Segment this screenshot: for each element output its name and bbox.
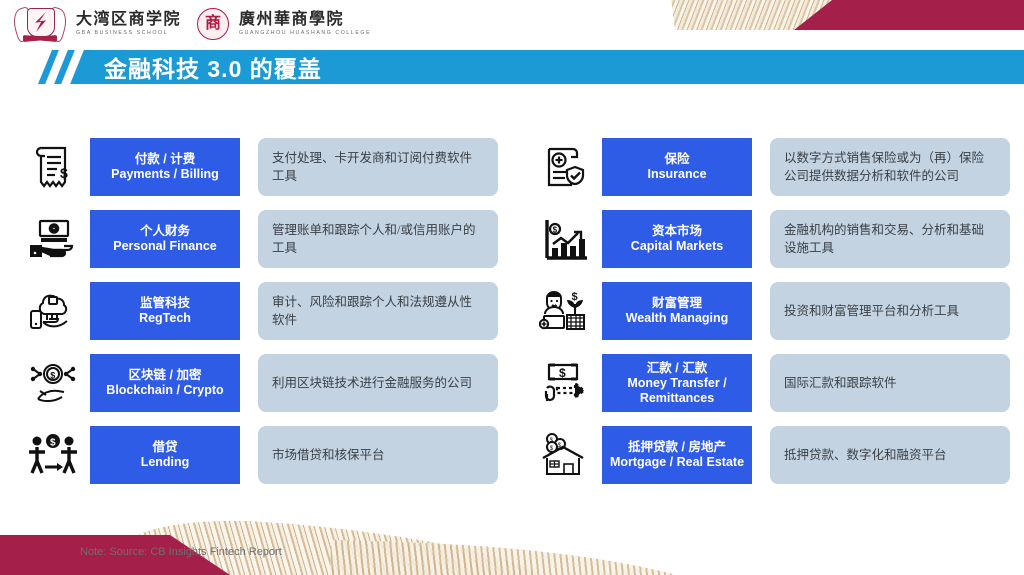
huashang-seal-glyph: 商 bbox=[205, 16, 221, 32]
slide-title-band: 金融科技 3.0 的覆盖 bbox=[38, 50, 1024, 84]
svg-text:$: $ bbox=[60, 165, 68, 181]
category-description: 国际汇款和跟踪软件 bbox=[770, 354, 1010, 412]
category-row-wealth-managing[interactable]: $ 财富管理 Wealth Managing 投资和财富管理平台和分析工具 bbox=[512, 282, 1024, 340]
category-description: 审计、风险和跟踪个人和法规遵从性软件 bbox=[258, 282, 498, 340]
huashang-logo-en: GUANGZHOU HUASHANG COLLEGE bbox=[239, 31, 371, 36]
huashang-logo-cn: 廣州華商學院 bbox=[239, 12, 371, 28]
huashang-logo-text: 廣州華商學院 GUANGZHOU HUASHANG COLLEGE bbox=[239, 12, 371, 36]
category-label-payments-billing[interactable]: 付款 / 计费 Payments / Billing bbox=[90, 138, 240, 196]
top-swirl-ornament-secondary-icon bbox=[852, 0, 1007, 45]
insurance-document-shield-icon bbox=[528, 138, 602, 196]
slide-root: 大湾区商学院 GBA BUSINESS SCHOOL 商 廣州華商學院 GUAN… bbox=[0, 0, 1024, 575]
svg-text:$: $ bbox=[50, 438, 56, 449]
category-row-payments-billing[interactable]: $ 付款 / 计费 Payments / Billing 支付处理、卡开发商和订… bbox=[0, 138, 512, 196]
category-description: 以数字方式销售保险或为（再）保险公司提供数据分析和软件的公司 bbox=[770, 138, 1010, 196]
category-label-money-transfer[interactable]: 汇款 / 汇款 Money Transfer / Remittances bbox=[602, 354, 752, 412]
category-label-personal-finance[interactable]: 个人财务 Personal Finance bbox=[90, 210, 240, 268]
label-en: Payments / Billing bbox=[111, 167, 219, 182]
banknote-arrow-hand-icon: $ bbox=[528, 354, 602, 412]
top-swirl-ornament-icon bbox=[669, 0, 908, 46]
label-en: Mortgage / Real Estate bbox=[610, 455, 744, 470]
svg-text:$: $ bbox=[559, 366, 566, 380]
gba-logo-en: GBA BUSINESS SCHOOL bbox=[76, 31, 181, 36]
label-cn: 监管科技 bbox=[140, 296, 190, 310]
gba-crest-icon bbox=[14, 6, 66, 42]
house-coins-icon: $ $ $ bbox=[528, 426, 602, 484]
svg-text:$: $ bbox=[572, 291, 578, 303]
category-row-regtech[interactable]: 监管科技 RegTech 审计、风险和跟踪个人和法规遵从性软件 bbox=[0, 282, 512, 340]
fintech-category-grid: $ 付款 / 计费 Payments / Billing 支付处理、卡开发商和订… bbox=[0, 138, 1024, 498]
label-cn: 抵押贷款 / 房地产 bbox=[628, 440, 726, 454]
category-description: 抵押贷款、数字化和融资平台 bbox=[770, 426, 1010, 484]
category-row-mortgage-real-estate[interactable]: $ $ $ 抵押贷款 / 房地产 Mortgage / Real Estate bbox=[512, 426, 1024, 484]
label-en: Capital Markets bbox=[631, 239, 723, 254]
label-cn: 保险 bbox=[664, 152, 689, 166]
label-en: Personal Finance bbox=[113, 239, 217, 254]
category-description: 投资和财富管理平台和分析工具 bbox=[770, 282, 1010, 340]
footer-decoration bbox=[0, 515, 1024, 575]
svg-text:$: $ bbox=[50, 371, 55, 381]
page-title: 金融科技 3.0 的覆盖 bbox=[104, 50, 322, 84]
footer-swirl-ornament-icon bbox=[118, 515, 552, 575]
double-slash-icon bbox=[38, 50, 108, 84]
category-row-money-transfer[interactable]: $ 汇款 / 汇款 Money Transfer / Remittances 国… bbox=[512, 354, 1024, 412]
label-cn: 个人财务 bbox=[140, 224, 190, 238]
category-description: 金融机构的销售和交易、分析和基础设施工具 bbox=[770, 210, 1010, 268]
category-description: 管理账单和跟踪个人和/或信用账户的工具 bbox=[258, 210, 498, 268]
category-row-blockchain-crypto[interactable]: $ bbox=[0, 354, 512, 412]
footer-swirl-ornament-secondary-icon bbox=[329, 540, 751, 575]
category-label-wealth-managing[interactable]: 财富管理 Wealth Managing bbox=[602, 282, 752, 340]
label-cn: 区块链 / 加密 bbox=[129, 368, 202, 382]
blockchain-coin-hand-icon: $ bbox=[16, 354, 90, 412]
left-column: $ 付款 / 计费 Payments / Billing 支付处理、卡开发商和订… bbox=[0, 138, 512, 498]
label-en: Money Transfer / Remittances bbox=[606, 376, 748, 406]
category-row-capital-markets[interactable]: $ 资本市场 Capital Markets 金融机构的销售和交易、分析和基础设… bbox=[512, 210, 1024, 268]
top-maroon-band bbox=[794, 0, 1024, 30]
advisor-desk-money-plant-icon: $ bbox=[528, 282, 602, 340]
svg-text:$: $ bbox=[553, 226, 558, 235]
right-column: 保险 Insurance 以数字方式销售保险或为（再）保险公司提供数据分析和软件… bbox=[512, 138, 1024, 498]
label-en: Wealth Managing bbox=[626, 311, 729, 326]
category-row-insurance[interactable]: 保险 Insurance 以数字方式销售保险或为（再）保险公司提供数据分析和软件… bbox=[512, 138, 1024, 196]
category-description: 利用区块链技术进行金融服务的公司 bbox=[258, 354, 498, 412]
label-en: Blockchain / Crypto bbox=[106, 383, 223, 398]
category-description: 市场借贷和核保平台 bbox=[258, 426, 498, 484]
label-cn: 财富管理 bbox=[652, 296, 702, 310]
category-label-regtech[interactable]: 监管科技 RegTech bbox=[90, 282, 240, 340]
gba-logo-cn: 大湾区商学院 bbox=[76, 12, 181, 28]
label-cn: 付款 / 计费 bbox=[135, 152, 195, 166]
label-cn: 资本市场 bbox=[652, 224, 702, 238]
category-label-capital-markets[interactable]: 资本市场 Capital Markets bbox=[602, 210, 752, 268]
category-label-lending[interactable]: 借贷 Lending bbox=[90, 426, 240, 484]
hand-cash-icon bbox=[16, 210, 90, 268]
category-label-blockchain-crypto[interactable]: 区块链 / 加密 Blockchain / Crypto bbox=[90, 354, 240, 412]
gba-logo-text: 大湾区商学院 GBA BUSINESS SCHOOL bbox=[76, 12, 181, 36]
label-en: Insurance bbox=[647, 167, 706, 182]
cloud-lock-hand-phone-icon bbox=[16, 282, 90, 340]
source-note: Note: Source: CB Insights Fintech Report bbox=[80, 546, 282, 558]
institution-logos: 大湾区商学院 GBA BUSINESS SCHOOL 商 廣州華商學院 GUAN… bbox=[14, 4, 371, 44]
huashang-seal-icon: 商 bbox=[197, 8, 229, 40]
bar-chart-arrow-dollar-icon: $ bbox=[528, 210, 602, 268]
label-en: RegTech bbox=[139, 311, 191, 326]
two-people-money-transfer-icon: $ bbox=[16, 426, 90, 484]
label-en: Lending bbox=[141, 455, 190, 470]
category-label-insurance[interactable]: 保险 Insurance bbox=[602, 138, 752, 196]
label-cn: 借贷 bbox=[152, 440, 177, 454]
receipt-dollar-icon: $ bbox=[16, 138, 90, 196]
category-description: 支付处理、卡开发商和订阅付费软件工具 bbox=[258, 138, 498, 196]
label-cn: 汇款 / 汇款 bbox=[647, 361, 707, 375]
category-row-personal-finance[interactable]: 个人财务 Personal Finance 管理账单和跟踪个人和/或信用账户的工… bbox=[0, 210, 512, 268]
category-row-lending[interactable]: $ 借贷 Lending 市场借贷和核保平台 bbox=[0, 426, 512, 484]
category-label-mortgage-real-estate[interactable]: 抵押贷款 / 房地产 Mortgage / Real Estate bbox=[602, 426, 752, 484]
